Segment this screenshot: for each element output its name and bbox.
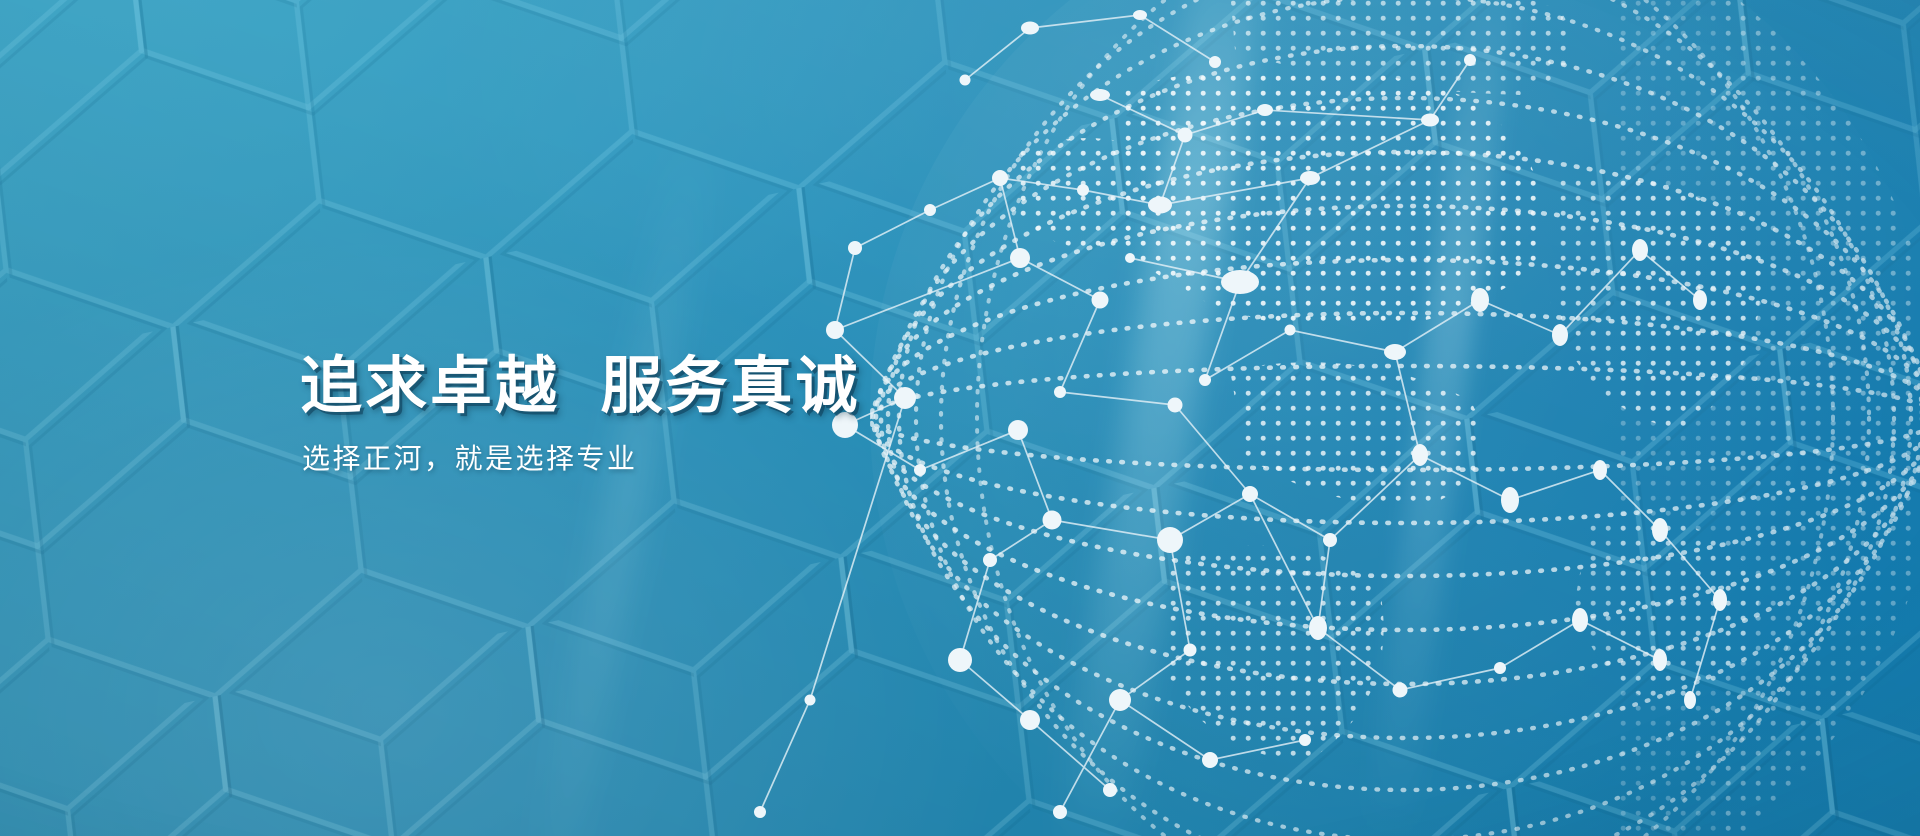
page-title: 追求卓越 服务真诚 <box>300 352 860 421</box>
hero-banner: 追求卓越 服务真诚 选择正河，就是选择专业 <box>0 0 1920 836</box>
page-subtitle: 选择正河，就是选择专业 <box>302 441 860 477</box>
banner-copy: 追求卓越 服务真诚 选择正河，就是选择专业 <box>300 352 860 478</box>
hexagon-grid-svg <box>0 0 1920 836</box>
hexagon-tech-pattern <box>0 0 1920 836</box>
